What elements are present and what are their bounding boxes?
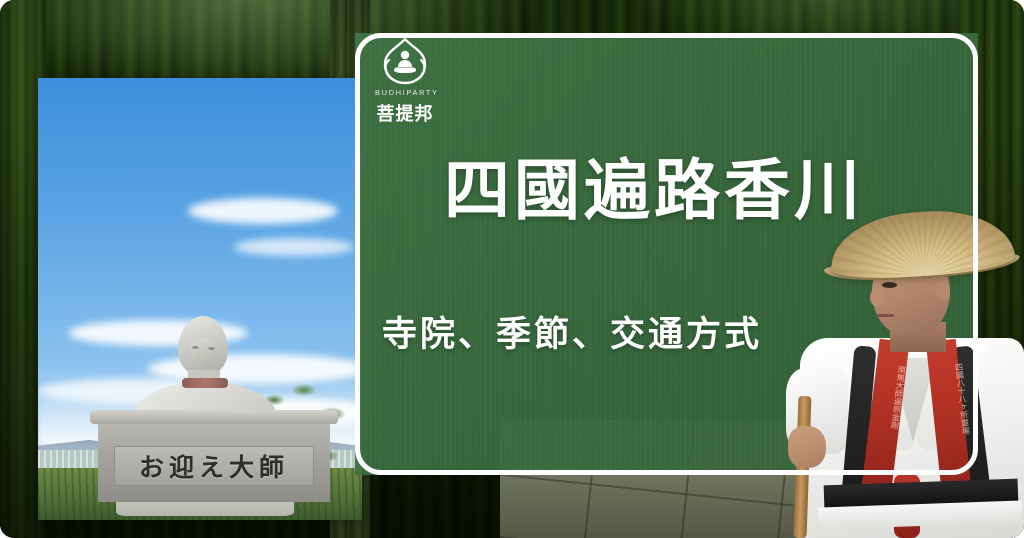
subheadline-text: 寺院、季節、交通方式 bbox=[382, 318, 762, 353]
mouth bbox=[876, 314, 894, 317]
brand-name-cn: 菩提邦 bbox=[375, 100, 435, 126]
stole-inscription-left: 南無大師遍照金剛 bbox=[868, 362, 906, 429]
pedestal-inscription: お迎え大師 bbox=[139, 448, 289, 484]
pedestal-cap bbox=[90, 410, 338, 424]
stole-inscription-right: 四國八十八ヶ所靈場 bbox=[932, 363, 969, 438]
nose bbox=[870, 288, 884, 306]
pedestal-plaque: お迎え大師 bbox=[114, 446, 314, 486]
cloud bbox=[234, 238, 354, 256]
hand-gripping-staff bbox=[788, 426, 826, 468]
cloud bbox=[188, 198, 338, 224]
brand-name-en: BUDHIPARTY bbox=[375, 88, 435, 97]
lotus-buddha-icon bbox=[377, 36, 433, 86]
eye bbox=[882, 282, 897, 288]
brand-logo[interactable]: BUDHIPARTY 菩提邦 bbox=[375, 36, 435, 126]
henro-pilgrim: 南無大師遍照金剛 四國八十八ヶ所靈場 bbox=[794, 198, 1024, 538]
ear bbox=[936, 280, 950, 300]
sedge-hat bbox=[828, 206, 1016, 283]
banner-card: お迎え大師 BUDHIPARTY 菩提邦 四國遍路香川 寺院、季節、交通方式 bbox=[0, 0, 1024, 538]
green-panel-translucent-edge bbox=[355, 33, 362, 475]
daishi-statue-photo: お迎え大師 bbox=[38, 78, 362, 520]
